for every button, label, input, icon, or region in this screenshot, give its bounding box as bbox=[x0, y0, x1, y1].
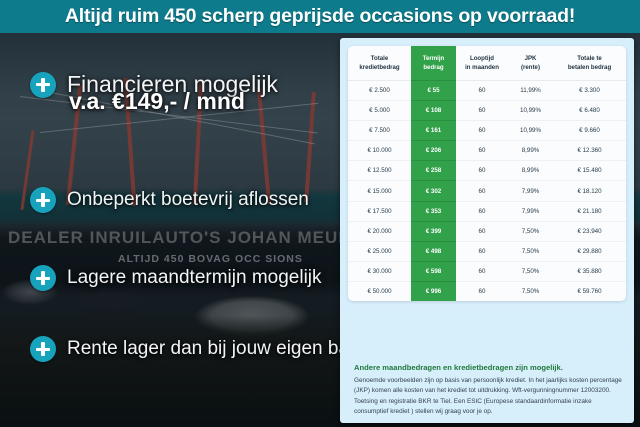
table-cell: € 15.000 bbox=[348, 181, 411, 201]
table-cell: 7,99% bbox=[508, 201, 553, 221]
table-cell: 60 bbox=[456, 201, 508, 221]
table-row: € 50.000€ 996607,50%€ 59.760 bbox=[348, 281, 626, 301]
column-header-looptijd: Looptijd in maanden bbox=[456, 46, 508, 81]
table-row: € 30.000€ 598607,50%€ 35.880 bbox=[348, 261, 626, 281]
fineprint-heading: Andere maandbedragen en kredietbedragen … bbox=[354, 363, 622, 373]
table-cell: € 399 bbox=[411, 221, 456, 241]
table-row: € 15.000€ 302607,99%€ 18.120 bbox=[348, 181, 626, 201]
benefit-item-maandtermijn: Lagere maandtermijn mogelijk bbox=[30, 265, 322, 291]
table-cell: € 50.000 bbox=[348, 281, 411, 301]
table-cell: € 353 bbox=[411, 201, 456, 221]
table-cell: € 30.000 bbox=[348, 261, 411, 281]
benefit-label: Rente lager dan bij jouw eigen bank bbox=[67, 338, 369, 360]
header-line-2: kredietbedrag bbox=[359, 64, 399, 71]
table-cell: € 161 bbox=[411, 121, 456, 141]
table-cell: € 2.500 bbox=[348, 81, 411, 101]
table-cell: 7,50% bbox=[508, 221, 553, 241]
table-cell: € 20.000 bbox=[348, 221, 411, 241]
table-cell: 11,99% bbox=[508, 81, 553, 101]
credit-info-panel: Totale kredietbedrag Termijn bedrag Loop… bbox=[340, 38, 634, 423]
table-cell: € 21.180 bbox=[553, 201, 626, 221]
table-cell: 10,99% bbox=[508, 121, 553, 141]
table-row: € 5.000€ 1086010,99%€ 6.480 bbox=[348, 101, 626, 121]
table-body: € 2.500€ 556011,99%€ 3.300€ 5.000€ 10860… bbox=[348, 81, 626, 302]
table-cell: € 18.120 bbox=[553, 181, 626, 201]
table-cell: 60 bbox=[456, 221, 508, 241]
table-cell: € 9.660 bbox=[553, 121, 626, 141]
column-header-totale-kredietbedrag: Totale kredietbedrag bbox=[348, 46, 411, 81]
table-cell: € 17.500 bbox=[348, 201, 411, 221]
plus-icon bbox=[30, 187, 56, 213]
table-cell: € 35.880 bbox=[553, 261, 626, 281]
table-cell: 60 bbox=[456, 281, 508, 301]
table-cell: € 258 bbox=[411, 161, 456, 181]
table-cell: € 108 bbox=[411, 101, 456, 121]
table-cell: € 3.300 bbox=[553, 81, 626, 101]
table-row: € 12.500€ 258608,99%€ 15.480 bbox=[348, 161, 626, 181]
table-header-row: Totale kredietbedrag Termijn bedrag Loop… bbox=[348, 46, 626, 81]
table-cell: € 12.500 bbox=[348, 161, 411, 181]
advertisement-banner: DEALER INRUILAUTO'S JOHAN MEURE ALTIJD 4… bbox=[0, 0, 640, 427]
table-cell: € 498 bbox=[411, 241, 456, 261]
table-cell: 60 bbox=[456, 141, 508, 161]
header-line-1: Looptijd bbox=[470, 55, 494, 62]
table-cell: € 598 bbox=[411, 261, 456, 281]
benefits-list: Financieren mogelijk v.a. €149,- / mnd O… bbox=[0, 33, 345, 427]
table-cell: € 23.940 bbox=[553, 221, 626, 241]
banner-headline: Altijd ruim 450 scherp geprijsde occasio… bbox=[65, 5, 575, 28]
header-line-2: (rente) bbox=[521, 64, 540, 71]
header-line-1: Totale bbox=[371, 55, 389, 62]
fineprint-body: Genoemde voorbeelden zijn op basis van p… bbox=[354, 376, 622, 418]
table-cell: € 59.760 bbox=[553, 281, 626, 301]
column-header-termijnbedrag: Termijn bedrag bbox=[411, 46, 456, 81]
top-banner: Altijd ruim 450 scherp geprijsde occasio… bbox=[0, 0, 640, 33]
table-cell: 7,99% bbox=[508, 181, 553, 201]
table-cell: 10,99% bbox=[508, 101, 553, 121]
benefit-label: Onbeperkt boetevrij aflossen bbox=[67, 189, 309, 211]
table-cell: 60 bbox=[456, 81, 508, 101]
benefit-item-rente: Rente lager dan bij jouw eigen bank bbox=[30, 336, 369, 362]
column-header-jpk: JPK (rente) bbox=[508, 46, 553, 81]
table-cell: € 206 bbox=[411, 141, 456, 161]
table-cell: 7,50% bbox=[508, 261, 553, 281]
table-cell: € 996 bbox=[411, 281, 456, 301]
table-cell: 60 bbox=[456, 121, 508, 141]
table-row: € 25.000€ 498607,50%€ 29.880 bbox=[348, 241, 626, 261]
header-line-1: Totale te bbox=[577, 55, 602, 62]
table-cell: 60 bbox=[456, 261, 508, 281]
benefit-sublabel-financiering: v.a. €149,- / mnd bbox=[69, 88, 245, 115]
header-line-1: JPK bbox=[525, 55, 537, 62]
benefit-item-aflossen: Onbeperkt boetevrij aflossen bbox=[30, 187, 309, 213]
credit-rates-table: Totale kredietbedrag Termijn bedrag Loop… bbox=[348, 46, 626, 301]
table-row: € 20.000€ 399607,50%€ 23.940 bbox=[348, 221, 626, 241]
table-cell: € 6.480 bbox=[553, 101, 626, 121]
table-cell: 7,50% bbox=[508, 281, 553, 301]
table-cell: € 10.000 bbox=[348, 141, 411, 161]
header-line-2: bedrag bbox=[423, 64, 443, 71]
plus-icon bbox=[30, 336, 56, 362]
header-line-2: in maanden bbox=[465, 64, 499, 71]
table-cell: € 302 bbox=[411, 181, 456, 201]
table-cell: € 29.880 bbox=[553, 241, 626, 261]
table-header: Totale kredietbedrag Termijn bedrag Loop… bbox=[348, 46, 626, 81]
table-row: € 10.000€ 206608,99%€ 12.360 bbox=[348, 141, 626, 161]
table-row: € 7.500€ 1616010,99%€ 9.660 bbox=[348, 121, 626, 141]
header-line-1: Termijn bbox=[423, 55, 445, 62]
table-row: € 2.500€ 556011,99%€ 3.300 bbox=[348, 81, 626, 101]
table-cell: € 12.360 bbox=[553, 141, 626, 161]
table-cell: € 7.500 bbox=[348, 121, 411, 141]
table-cell: 7,50% bbox=[508, 241, 553, 261]
plus-icon bbox=[30, 265, 56, 291]
table-cell: 60 bbox=[456, 101, 508, 121]
table-row: € 17.500€ 353607,99%€ 21.180 bbox=[348, 201, 626, 221]
table-cell: 60 bbox=[456, 181, 508, 201]
table-cell: € 5.000 bbox=[348, 101, 411, 121]
table-cell: € 55 bbox=[411, 81, 456, 101]
table-cell: € 25.000 bbox=[348, 241, 411, 261]
table-cell: 8,99% bbox=[508, 141, 553, 161]
table-cell: 8,99% bbox=[508, 161, 553, 181]
table-cell: 60 bbox=[456, 161, 508, 181]
table-cell: € 15.480 bbox=[553, 161, 626, 181]
table-cell: 60 bbox=[456, 241, 508, 261]
plus-icon bbox=[30, 72, 56, 98]
credit-table-card: Totale kredietbedrag Termijn bedrag Loop… bbox=[348, 46, 626, 301]
header-line-2: betalen bedrag bbox=[568, 64, 611, 71]
benefit-label: Lagere maandtermijn mogelijk bbox=[67, 267, 322, 289]
column-header-totale-te-betalen: Totale te betalen bedrag bbox=[553, 46, 626, 81]
